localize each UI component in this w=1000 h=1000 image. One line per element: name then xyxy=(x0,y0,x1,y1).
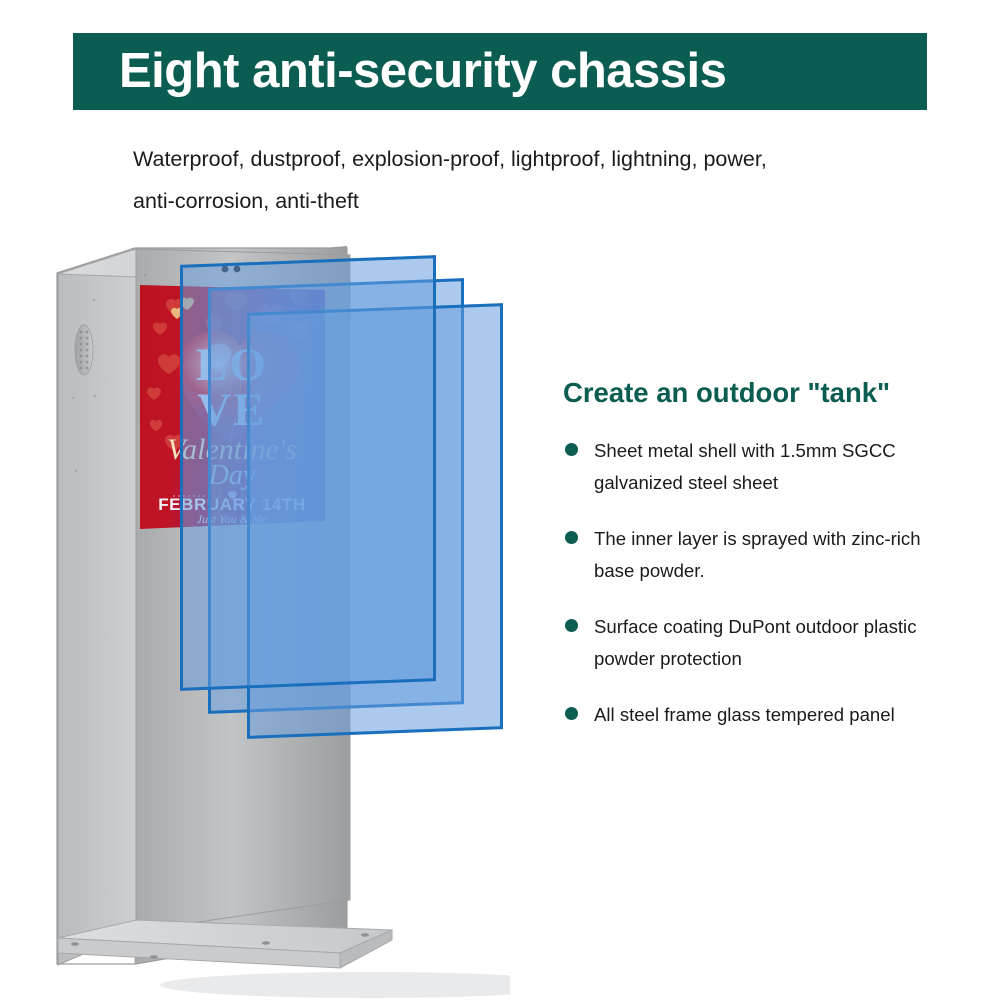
page-title: Eight anti-security chassis xyxy=(119,47,726,96)
header-banner: Eight anti-security chassis xyxy=(73,33,927,110)
floor-shadow xyxy=(160,972,510,998)
features-section: Create an outdoor "tank" Sheet metal she… xyxy=(563,376,963,731)
poster-love-line2: VE xyxy=(197,384,266,436)
list-item: All steel frame glass tempered panel xyxy=(563,699,963,731)
list-item-label: Surface coating DuPont outdoor plastic p… xyxy=(594,616,917,669)
screw-dot-5 xyxy=(94,395,96,397)
screw-dot-1 xyxy=(144,274,146,276)
camera-sensor-icon xyxy=(222,266,229,273)
slide-root: Eight anti-security chassis Waterproof, … xyxy=(0,0,1000,1000)
speaker-grille-icon xyxy=(75,325,93,375)
screw-dot-3 xyxy=(93,299,95,301)
kiosk-svg: LO VE Valentine's Day FEBRUARY 14TH Just… xyxy=(40,228,510,1000)
light-sensor-icon xyxy=(234,266,241,273)
bullet-dot-icon xyxy=(565,531,578,544)
list-item-label: Sheet metal shell with 1.5mm SGCC galvan… xyxy=(594,440,896,493)
list-item: Surface coating DuPont outdoor plastic p… xyxy=(563,611,963,675)
list-item-label: The inner layer is sprayed with zinc-ric… xyxy=(594,528,921,581)
screw-dot-2 xyxy=(304,271,306,273)
screw-dot-6 xyxy=(75,470,77,472)
bullet-dot-icon xyxy=(565,443,578,456)
screw-dot-4 xyxy=(72,397,74,399)
features-list: Sheet metal shell with 1.5mm SGCC galvan… xyxy=(563,435,963,731)
display-screen: LO VE Valentine's Day FEBRUARY 14TH Just… xyxy=(140,285,325,529)
features-heading: Create an outdoor "tank" xyxy=(563,376,963,409)
list-item-label: All steel frame glass tempered panel xyxy=(594,704,895,725)
kiosk-illustration: LO VE Valentine's Day FEBRUARY 14TH Just… xyxy=(40,228,510,1000)
poster-tagline: Just You & Me xyxy=(197,512,268,526)
list-item: Sheet metal shell with 1.5mm SGCC galvan… xyxy=(563,435,963,499)
list-item: The inner layer is sprayed with zinc-ric… xyxy=(563,523,963,587)
bullet-dot-icon xyxy=(565,707,578,720)
kiosk-left-side xyxy=(58,249,136,965)
subtitle-text: Waterproof, dustproof, explosion-proof, … xyxy=(133,139,863,223)
bullet-dot-icon xyxy=(565,619,578,632)
poster-script-line2: Day xyxy=(208,460,256,491)
